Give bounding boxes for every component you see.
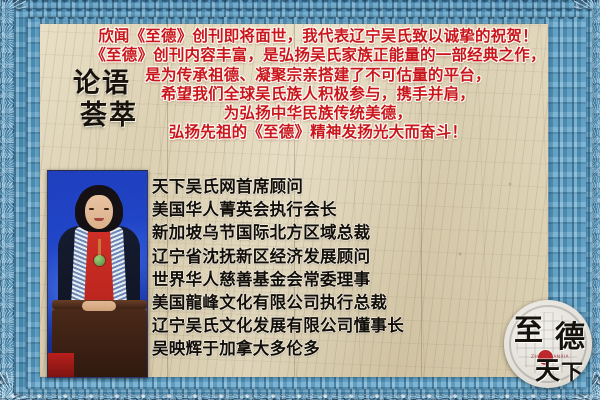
credential-line-1: 天下吴氏网首席顾问 [152, 175, 492, 198]
headline-line-4: 希望我们全球吴氏族人积极参与，携手并肩， [83, 85, 553, 104]
portrait-jade-pendant [94, 255, 105, 266]
seal-char-top-left: 至 [514, 316, 543, 345]
credential-line-4: 辽宁省沈抚新区经济发展顾问 [152, 245, 492, 268]
section-title: 论语 荟萃 [52, 68, 152, 132]
frame-scallop-top [0, 0, 600, 8]
speaker-portrait-photo [47, 170, 148, 378]
headline-line-6: 弘扬先祖的《至德》精神发扬光大而奋斗！ [83, 123, 553, 142]
portrait-red-carpet [48, 353, 74, 377]
seal-char-bottom-left: 天 [535, 358, 560, 383]
headline-line-3: 是为传承祖德、凝聚宗亲搭建了不可估量的平台， [83, 66, 553, 85]
seal-char-bottom-right: 下 [561, 363, 583, 385]
frame-scallop-top-mid [14, 9, 592, 17]
credential-line-6: 美国龍峰文化有限公司执行总裁 [152, 291, 492, 314]
seal-char-top-right: 德 [555, 323, 585, 353]
section-title-line-1: 论语 [52, 68, 152, 100]
congratulation-message: 欣闻《至德》创刊即将面世，我代表辽宁吴氏致以诚挚的祝贺！ 《至德》创刊内容丰富，… [83, 27, 553, 143]
headline-line-2: 《至德》创刊内容丰富，是弘扬吴氏家族正能量的一部经典之作， [83, 46, 553, 65]
credential-line-2: 美国华人菁英会执行会长 [152, 198, 492, 221]
section-title-line-2: 荟萃 [52, 100, 152, 132]
credential-line-7: 辽宁吴氏文化发展有限公司懂事长 [152, 314, 492, 337]
portrait-hands [82, 301, 116, 311]
brand-seal-logo: ZHIDE TIANXIA 至 德 天 下 [504, 300, 592, 388]
headline-line-5: 为弘扬中华民族传统美德， [83, 104, 553, 123]
poster-canvas: 欣闻《至德》创刊即将面世，我代表辽宁吴氏致以诚挚的祝贺！ 《至德》创刊内容丰富，… [0, 0, 600, 400]
headline-line-1: 欣闻《至德》创刊即将面世，我代表辽宁吴氏致以诚挚的祝贺！ [83, 27, 553, 46]
portrait-mouth [94, 218, 104, 221]
credential-list: 天下吴氏网首席顾问 美国华人菁英会执行会长 新加坡乌节国际北方区域总裁 辽宁省沈… [152, 175, 492, 361]
credential-line-5: 世界华人慈善基金会常委理事 [152, 268, 492, 291]
portrait-face [85, 195, 113, 229]
credential-line-3: 新加坡乌节国际北方区域总裁 [152, 221, 492, 244]
credential-line-8: 吴映辉于加拿大多伦多 [152, 337, 492, 360]
